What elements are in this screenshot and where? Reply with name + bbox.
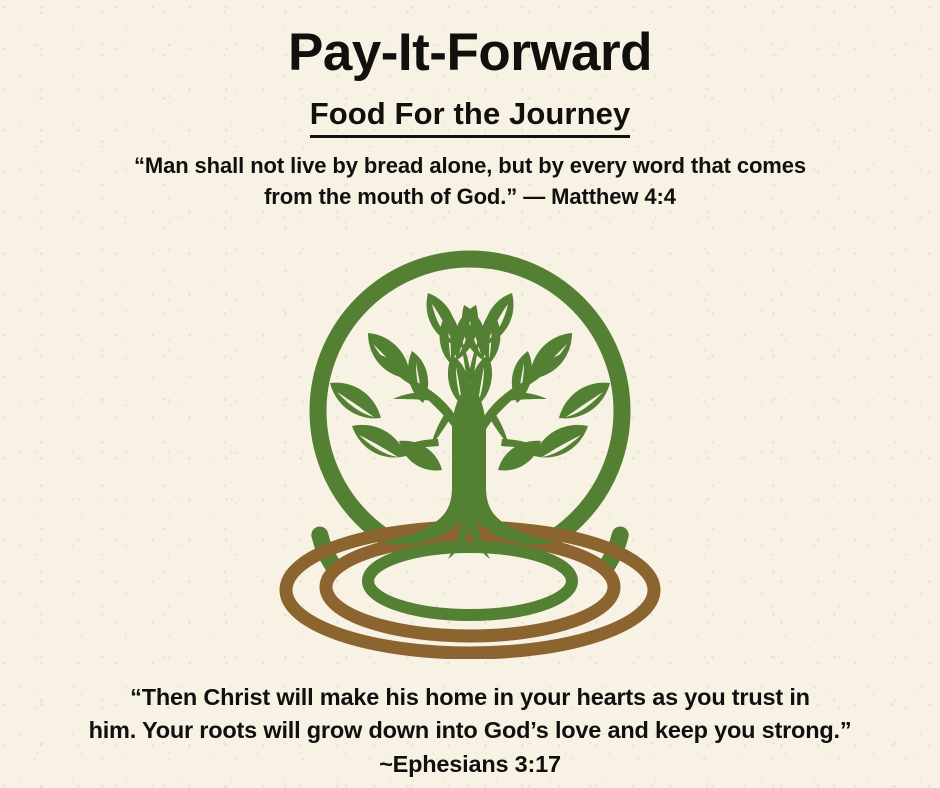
closing-scripture-quote: “Then Christ will make his home in your … — [0, 681, 940, 781]
tree-of-life-logo — [262, 243, 678, 659]
leaf-ul-7 — [352, 425, 406, 458]
page-title: Pay-It-Forward — [0, 24, 940, 81]
leaf-ur-3 — [530, 333, 572, 379]
leaf-ul-5 — [330, 383, 381, 419]
poster-canvas: Pay-It-Forward Food For the Journey “Man… — [0, 0, 940, 788]
page-subtitle: Food For the Journey — [310, 95, 631, 138]
logo-ground-rings — [286, 527, 654, 653]
closing-line-2: him. Your roots will grow down into God’… — [28, 714, 912, 747]
leaf-ul-3 — [368, 333, 410, 379]
leaf-ur-5 — [559, 383, 610, 419]
epigraph-line-1: “Man shall not live by bread alone, but … — [58, 150, 882, 181]
page-subtitle-container: Food For the Journey — [0, 95, 940, 138]
epigraph-scripture-quote: “Man shall not live by bread alone, but … — [0, 150, 940, 212]
closing-reference: ~Ephesians 3:17 — [28, 748, 912, 781]
inner-ring — [368, 547, 572, 615]
closing-line-1: “Then Christ will make his home in your … — [28, 681, 912, 714]
epigraph-line-2: from the mouth of God.” — Matthew 4:4 — [58, 181, 882, 212]
leaf-ur-7 — [534, 425, 588, 458]
